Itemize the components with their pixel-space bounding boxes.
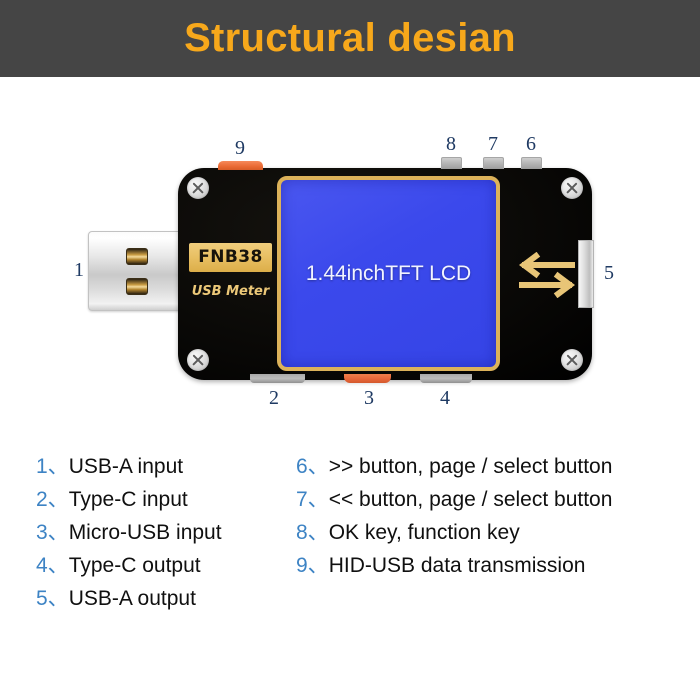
callout-number-5: 5 xyxy=(598,262,620,285)
legend-number-1: 1、 xyxy=(36,450,69,480)
usb-contact-pad-top xyxy=(126,248,148,265)
callout-number-2: 2 xyxy=(263,387,285,410)
legend-item-2: 2、 Type-C input xyxy=(36,483,296,516)
legend-label-5: USB-A output xyxy=(69,587,296,611)
legend-item-1: 1、 USB-A input xyxy=(36,450,296,483)
prev-button[interactable] xyxy=(483,157,504,169)
brand-subtitle-label: USB Meter xyxy=(189,284,272,299)
legend-label-1: USB-A input xyxy=(69,455,296,479)
callout-number-7: 7 xyxy=(482,133,504,156)
device-body: FNB38 USB Meter 1.44inchTFT LCD xyxy=(178,168,592,380)
ok-button[interactable] xyxy=(441,157,462,169)
callout-number-4: 4 xyxy=(434,387,456,410)
legend-number-6: 6、 xyxy=(296,450,329,480)
phillips-screw-icon xyxy=(561,177,583,199)
legend-item-3: 3、 Micro-USB input xyxy=(36,516,296,549)
legend-item-6: 6、 >> button, page / select button xyxy=(296,450,696,483)
phillips-screw-icon xyxy=(187,177,209,199)
legend-number-5: 5、 xyxy=(36,582,69,612)
legend-label-8: OK key, function key xyxy=(329,521,696,545)
legend-item-7: 7、 << button, page / select button xyxy=(296,483,696,516)
hid-usb-port xyxy=(218,161,263,170)
device-illustration: FNB38 USB Meter 1.44inchTFT LCD 1 2 3 4 … xyxy=(0,77,700,442)
legend-label-4: Type-C output xyxy=(69,554,296,578)
legend-column-right: 6、 >> button, page / select button 7、 <<… xyxy=(296,450,696,582)
phillips-screw-icon xyxy=(187,349,209,371)
type-c-output-port xyxy=(420,374,472,383)
page-title: Structural desian xyxy=(0,0,700,77)
callout-number-6: 6 xyxy=(520,133,542,156)
lcd-screen: 1.44inchTFT LCD xyxy=(277,176,500,371)
legend-item-4: 4、 Type-C output xyxy=(36,549,296,582)
legend-label-9: HID-USB data transmission xyxy=(329,554,696,578)
legend-number-7: 7、 xyxy=(296,483,329,513)
bidirectional-data-arrows-icon xyxy=(519,252,575,298)
usb-contact-pad-bottom xyxy=(126,278,148,295)
legend-column-left: 1、 USB-A input 2、 Type-C input 3、 Micro-… xyxy=(36,450,296,615)
legend-item-8: 8、 OK key, function key xyxy=(296,516,696,549)
callout-number-1: 1 xyxy=(68,259,90,282)
legend-label-2: Type-C input xyxy=(69,488,296,512)
header-bar: Structural desian xyxy=(0,0,700,77)
legend-number-9: 9、 xyxy=(296,549,329,579)
legend: 1、 USB-A input 2、 Type-C input 3、 Micro-… xyxy=(0,450,700,650)
legend-number-2: 2、 xyxy=(36,483,69,513)
legend-label-6: >> button, page / select button xyxy=(329,455,696,479)
lcd-screen-label: 1.44inchTFT LCD xyxy=(281,262,496,286)
legend-label-7: << button, page / select button xyxy=(329,488,696,512)
usb-a-plug xyxy=(88,231,188,311)
usb-a-output-port xyxy=(578,240,594,308)
type-c-input-port xyxy=(250,374,305,383)
legend-label-3: Micro-USB input xyxy=(69,521,296,545)
legend-item-9: 9、 HID-USB data transmission xyxy=(296,549,696,582)
legend-number-4: 4、 xyxy=(36,549,69,579)
legend-number-8: 8、 xyxy=(296,516,329,546)
callout-number-8: 8 xyxy=(440,133,462,156)
phillips-screw-icon xyxy=(561,349,583,371)
micro-usb-input-port xyxy=(344,374,391,383)
callout-number-9: 9 xyxy=(229,137,251,160)
next-button[interactable] xyxy=(521,157,542,169)
legend-number-3: 3、 xyxy=(36,516,69,546)
brand-model-label: FNB38 xyxy=(189,243,272,272)
legend-item-5: 5、 USB-A output xyxy=(36,582,296,615)
callout-number-3: 3 xyxy=(358,387,380,410)
